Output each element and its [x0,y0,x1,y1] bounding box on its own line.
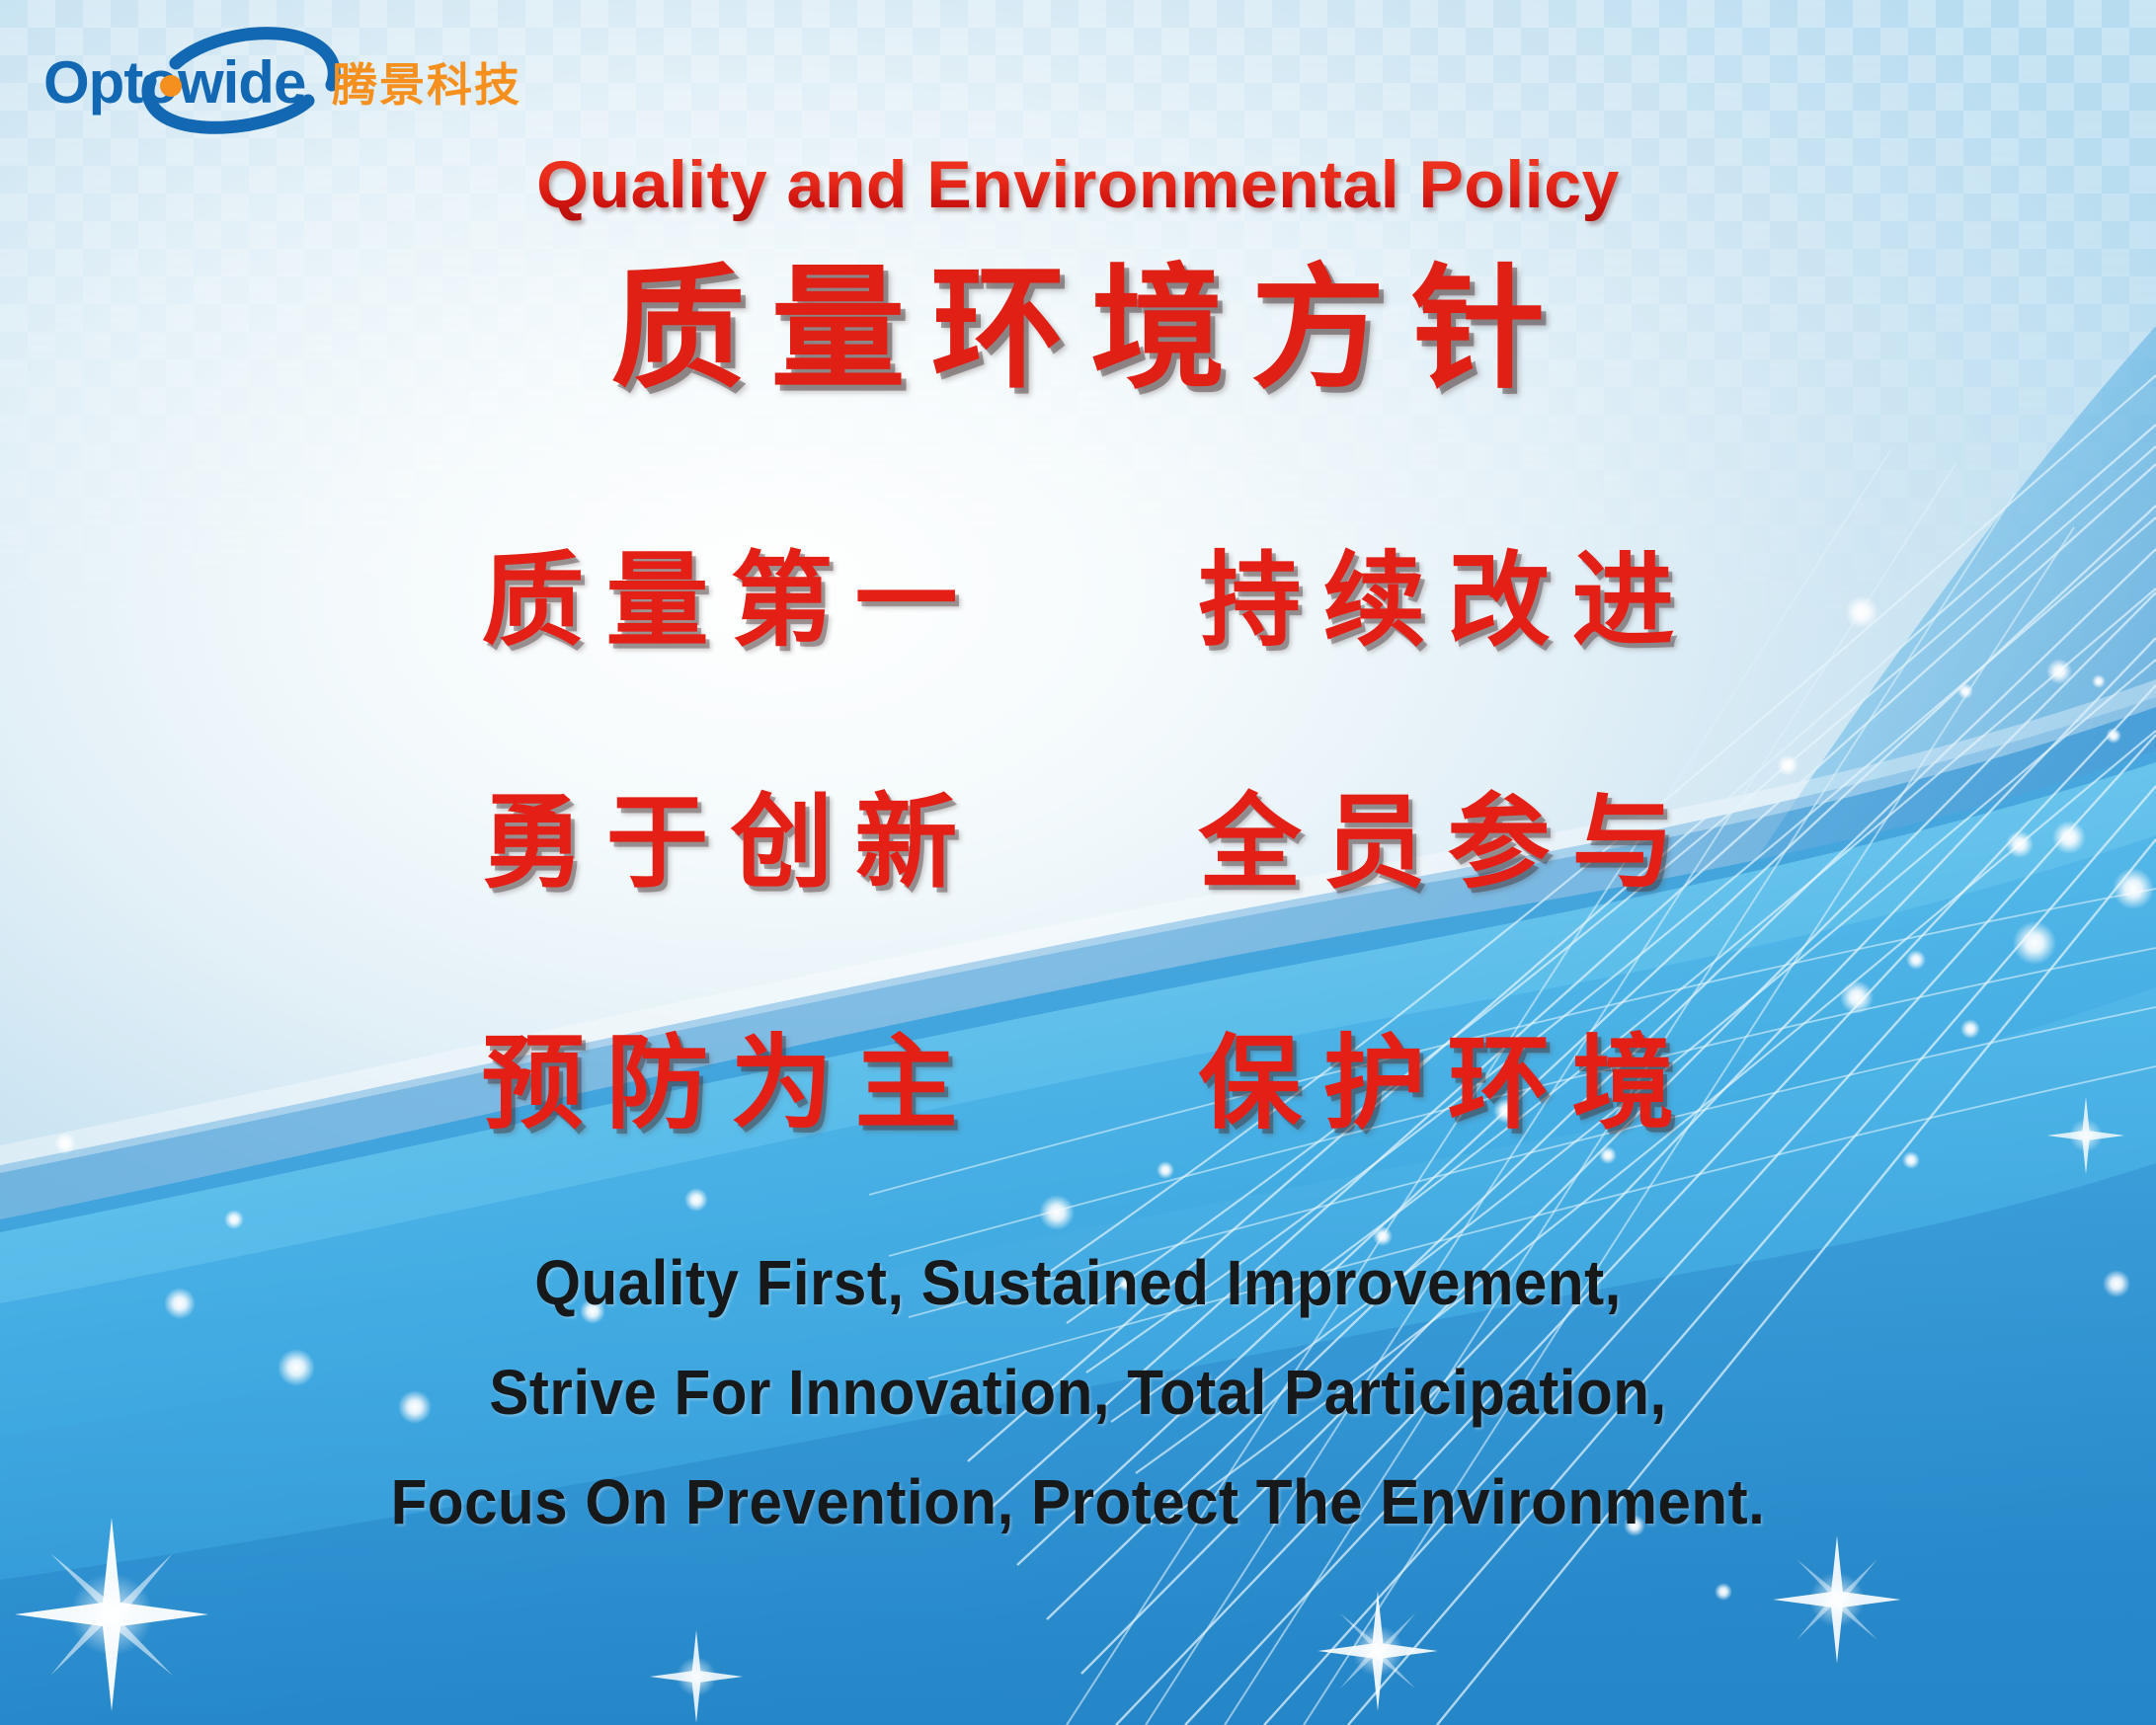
english-line-1: Quality First, Sustained Improvement, [64,1246,2091,1319]
slogan-1-right: 持续改进 [1177,516,1697,666]
logo-orange-dot [160,75,182,97]
slogan-row-1: 质量第一 持续改进 [0,516,2156,666]
english-line-2: Strive For Innovation, Total Participati… [64,1356,2091,1429]
company-logo[interactable]: Optowide 腾景科技 [36,26,549,144]
slogan-row-2: 勇于创新 全员参与 [0,758,2156,907]
slogan-row-3: 预防为主 保护环境 [0,999,2156,1148]
slogan-3-left: 预防为主 [459,999,979,1148]
page-title-chinese: 质量环境方针 [0,252,2156,406]
page-title-english: Quality and Environmental Policy [0,146,2156,223]
logo-cn-text: 腾景科技 [332,59,521,111]
slogan-2-left: 勇于创新 [459,758,979,907]
slogan-3-right: 保护环境 [1177,999,1697,1148]
english-line-3: Focus On Prevention, Protect The Environ… [64,1465,2091,1538]
slogan-1-left: 质量第一 [459,516,979,666]
slogan-2-right: 全员参与 [1177,758,1697,907]
poster-canvas: Optowide 腾景科技 Quality and Environmental … [0,0,2156,1725]
